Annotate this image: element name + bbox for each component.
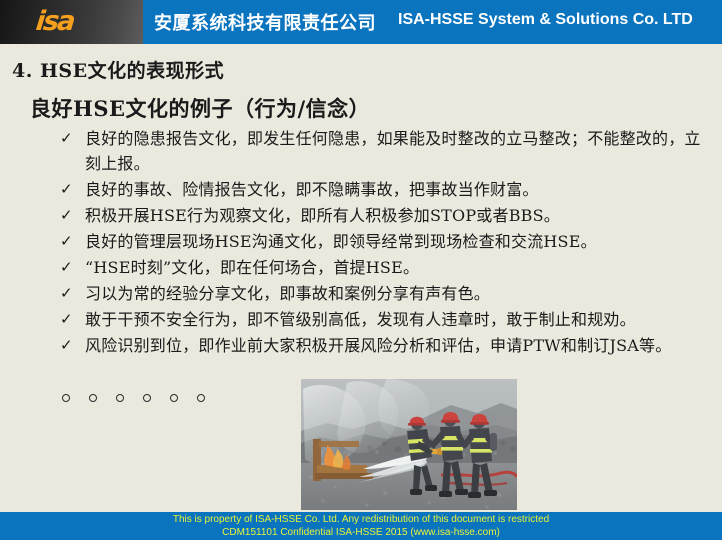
circle-bullet-icon bbox=[143, 394, 151, 402]
footer-copyright-line: This is property of ISA-HSSE Co. Ltd. An… bbox=[0, 512, 722, 526]
circle-bullet-icon bbox=[62, 394, 70, 402]
list-item-label: 风险识别到位，即作业前大家积极开展风险分析和评估，申请PTW和制订JSA等。 bbox=[85, 333, 715, 358]
check-icon: ✓ bbox=[60, 333, 85, 358]
slide-footer-bar: This is property of ISA-HSSE Co. Ltd. An… bbox=[0, 512, 722, 540]
logo-panel: isa bbox=[0, 0, 143, 44]
check-icon: ✓ bbox=[60, 126, 85, 151]
list-item: ✓ 敢于干预不安全行为，即不管级别高低，发现有人违章时，敢于制止和规劝。 bbox=[60, 307, 715, 332]
list-item: ✓ 风险识别到位，即作业前大家积极开展风险分析和评估，申请PTW和制订JSA等。 bbox=[60, 333, 715, 358]
list-item: ✓ 积极开展HSE行为观察文化，即所有人积极参加STOP或者BBS。 bbox=[60, 203, 715, 228]
check-icon: ✓ bbox=[60, 229, 85, 254]
list-item-label: 良好的管理层现场HSE沟通文化，即领导经常到现场检查和交流HSE。 bbox=[85, 229, 715, 254]
slide-title-secondary: 良好HSE文化的例子（行为/信念） bbox=[30, 93, 370, 123]
company-name-english: ISA-HSSE System & Solutions Co. LTD bbox=[398, 11, 693, 29]
slide-header-bar: isa 安厦系统科技有限责任公司 ISA-HSSE System & Solut… bbox=[0, 0, 722, 44]
slide-title-primary: 4. HSE文化的表现形式 bbox=[12, 56, 224, 83]
company-name-chinese: 安厦系统科技有限责任公司 bbox=[154, 9, 376, 35]
list-item: ✓ “HSE时刻”文化，即在任何场合，首提HSE。 bbox=[60, 255, 715, 280]
list-item: ✓ 良好的管理层现场HSE沟通文化，即领导经常到现场检查和交流HSE。 bbox=[60, 229, 715, 254]
slide-canvas: isa 安厦系统科技有限责任公司 ISA-HSSE System & Solut… bbox=[0, 0, 722, 540]
check-icon: ✓ bbox=[60, 281, 85, 306]
list-item: ✓ 良好的隐患报告文化，即发生任何隐患，如果能及时整改的立马整改；不能整改的，立… bbox=[60, 126, 715, 176]
footer-document-id-line: CDM151101 Confidential ISA-HSSE 2015 (ww… bbox=[0, 526, 722, 539]
check-icon: ✓ bbox=[60, 177, 85, 202]
list-item-label: 积极开展HSE行为观察文化，即所有人积极参加STOP或者BBS。 bbox=[85, 203, 715, 228]
check-icon: ✓ bbox=[60, 255, 85, 280]
list-item-label: 习以为常的经验分享文化，即事故和案例分享有声有色。 bbox=[85, 281, 715, 306]
circle-bullet-icon bbox=[89, 394, 97, 402]
list-item-label: “HSE时刻”文化，即在任何场合，首提HSE。 bbox=[85, 255, 715, 280]
check-icon: ✓ bbox=[60, 307, 85, 332]
bullet-list: ✓ 良好的隐患报告文化，即发生任何隐患，如果能及时整改的立马整改；不能整改的，立… bbox=[60, 126, 715, 359]
circle-bullet-icon bbox=[170, 394, 178, 402]
list-item: ✓ 习以为常的经验分享文化，即事故和案例分享有声有色。 bbox=[60, 281, 715, 306]
circle-bullet-row bbox=[62, 394, 205, 402]
list-item: ✓ 良好的事故、险情报告文化，即不隐瞒事故，把事故当作财富。 bbox=[60, 177, 715, 202]
check-icon: ✓ bbox=[60, 203, 85, 228]
circle-bullet-icon bbox=[116, 394, 124, 402]
fire-drill-photo-graphic bbox=[301, 379, 517, 510]
isa-logo-icon: isa bbox=[34, 7, 75, 36]
fire-drill-photo bbox=[301, 379, 517, 510]
list-item-label: 良好的事故、险情报告文化，即不隐瞒事故，把事故当作财富。 bbox=[85, 177, 715, 202]
circle-bullet-icon bbox=[197, 394, 205, 402]
list-item-label: 良好的隐患报告文化，即发生任何隐患，如果能及时整改的立马整改；不能整改的，立刻上… bbox=[85, 126, 715, 176]
list-item-label: 敢于干预不安全行为，即不管级别高低，发现有人违章时，敢于制止和规劝。 bbox=[85, 307, 715, 332]
